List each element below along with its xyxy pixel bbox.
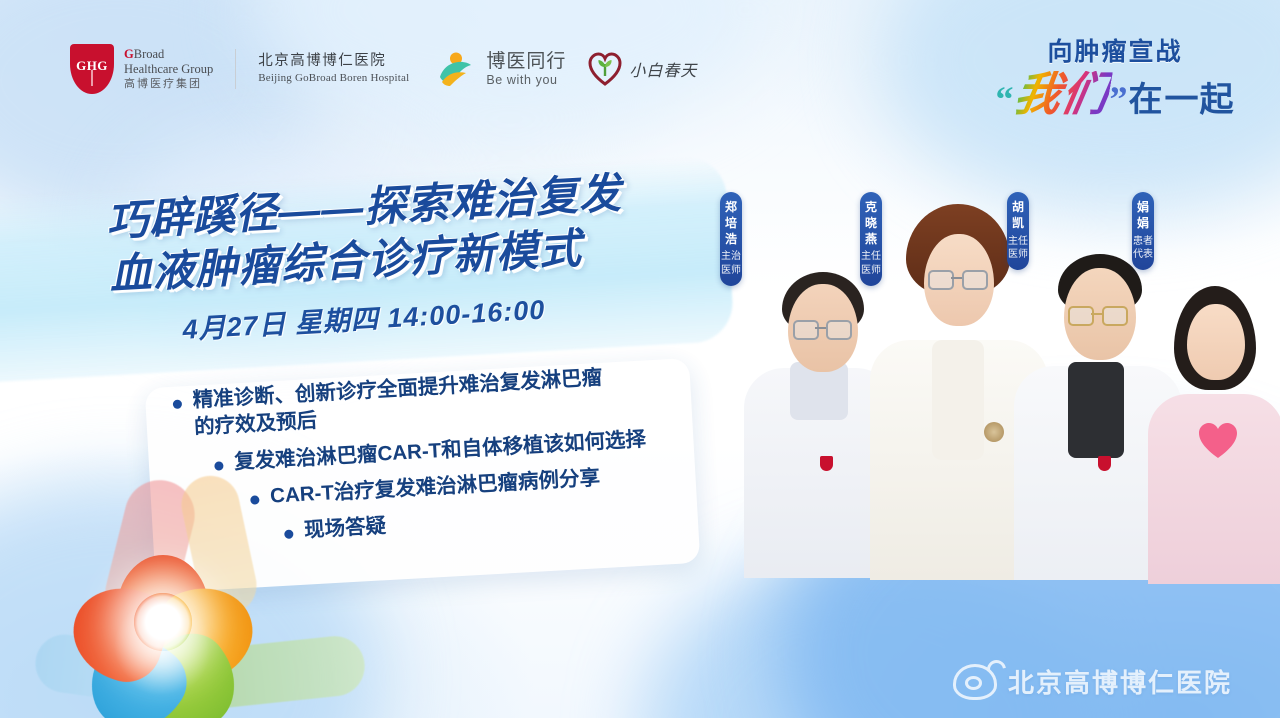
xiaobai-name: 小白春天 [629,57,697,81]
eyeglasses-bridge [1091,313,1102,315]
slogan-we: 我们 [1010,71,1112,117]
eyeglasses-bridge [951,277,962,279]
logo-divider [235,49,236,89]
eyeglasses-icon [826,320,852,340]
speaker-photo-4 [1144,270,1280,570]
bullet-dot-icon [173,399,182,408]
agenda-list: 精准诊断、创新诊疗全面提升难治复发淋巴瘤的疗效及预后 复发难治淋巴瘤CAR-T和… [172,359,701,560]
weibo-icon [953,664,997,700]
eyeglasses-icon [928,270,954,290]
speaker-role: 主任医师 [1007,235,1029,261]
slogan-line2: “ 我们 ” 在 一起 [990,71,1240,117]
bullet-dot-icon [250,495,259,504]
heart-sprout-icon [588,52,622,86]
speaker-name: 克晓燕 [860,200,882,247]
eyeglasses-bridge [815,327,826,329]
bullet-dot-icon [284,529,293,538]
agenda-item-text: 现场答疑 [303,512,386,544]
five-petal-flower-icon [55,533,285,713]
speaker-name-tag-1: 郑培浩 主治医师 [720,192,742,286]
bewithyou-text: 博医同行 Be with you [486,51,566,86]
dark-shirt [1068,362,1124,458]
ghg-line1: GBroad [124,47,213,62]
hospital-name-cn: 北京高博博仁医院 [258,52,409,71]
speaker-name-tag-3: 胡凯 主任医师 [1007,192,1029,270]
slogan-line1: 向肿瘤宣战 [990,40,1240,65]
bewithyou-cn: 博医同行 [486,51,566,72]
eyeglasses-icon [1068,306,1094,326]
speaker-role: 患者代表 [1132,235,1154,261]
speakers-photo-group: 郑培浩 主治医师 克晓燕 主任医师 胡凯 主任医师 娟娟 患者代表 [720,150,1280,570]
brooch-icon [984,422,1004,442]
hospital-name: 北京高博博仁医院 Beijing GoBroad Boren Hospital [258,52,409,86]
speaker-name: 胡凯 [1007,200,1029,232]
speaker-name: 娟娟 [1132,200,1154,232]
bullet-dot-icon [214,461,223,470]
heart-hands-icon [1196,420,1240,460]
hospital-badge [820,456,833,471]
hospital-badge [1098,456,1111,471]
xiaobai-logo: 小白春天 [588,52,697,86]
speaker-role: 主治医师 [720,250,742,276]
speaker-name-tag-2: 克晓燕 主任医师 [860,192,882,286]
inner-top [932,340,984,460]
face [1187,304,1245,380]
care-figure-icon [437,51,477,87]
weibo-watermark: 北京高博博仁医院 [953,663,1232,700]
bewithyou-en: Be with you [486,73,566,87]
shield-icon: GHG [70,44,114,94]
eyeglasses-icon [962,270,988,290]
speaker-role: 主任医师 [860,250,882,276]
ghg-line3: 高博医疗集团 [124,78,213,91]
poster-canvas: GHG GBroad Healthcare Group 高博医疗集团 北京高博博… [0,0,1280,718]
title-block: 巧辟蹊径——探索难治复发 血液肿瘤综合诊疗新模式 4月27日 星期四 14:00… [105,167,629,350]
eyeglasses-icon [1102,306,1128,326]
slogan-rest-a: 在 [1129,83,1164,117]
ghg-logo: GHG GBroad Healthcare Group 高博医疗集团 [70,44,213,94]
eyeglasses-icon [793,320,819,340]
ghg-mark-text: GHG [76,58,108,74]
hospital-name-en: Beijing GoBroad Boren Hospital [258,71,409,86]
ghg-line2: Healthcare Group [124,62,213,77]
quote-close: ” [1110,81,1128,117]
ghg-logo-text: GBroad Healthcare Group 高博医疗集团 [124,47,213,91]
logo-bar: GHG GBroad Healthcare Group 高博医疗集团 北京高博博… [70,38,697,100]
speaker-name: 郑培浩 [720,200,742,247]
slogan-rest-b: 一起 [1165,83,1235,117]
flower-glow-center [134,593,192,651]
bewithyou-logo: 博医同行 Be with you [437,51,566,87]
weibo-account-name: 北京高博博仁医院 [1008,663,1232,700]
campaign-slogan: 向肿瘤宣战 “ 我们 ” 在 一起 [990,40,1240,117]
speaker-name-tag-4: 娟娟 患者代表 [1132,192,1154,270]
